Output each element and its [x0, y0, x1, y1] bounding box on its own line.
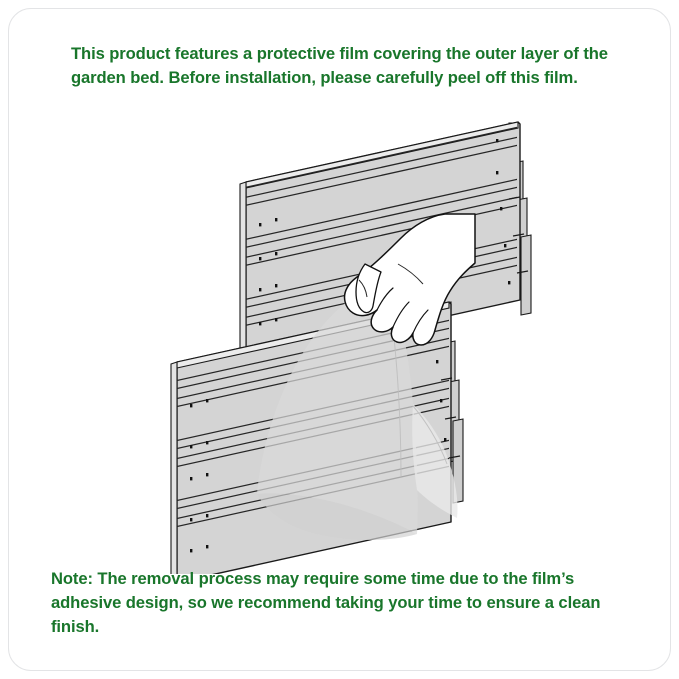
- lower-panel: [9, 263, 672, 574]
- lower-panel-right-flanges: [441, 302, 463, 503]
- lower-panel-left-flange: [171, 362, 177, 574]
- upper-panel: [9, 104, 672, 382]
- lower-panel-face: [177, 302, 451, 574]
- garden-bed-peel-film-illustration: [9, 104, 672, 574]
- upper-panel-left-flange: [240, 182, 246, 362]
- film-sheet: [257, 279, 418, 534]
- lower-panel-screw-holes: [190, 320, 446, 552]
- hand: [345, 214, 475, 345]
- hand-thumb: [356, 264, 381, 313]
- upper-panel-face: [246, 122, 520, 360]
- lower-panel-ribs: [9, 263, 672, 568]
- top-instruction-text: This product features a protective film …: [71, 42, 616, 90]
- film-bottom-roll: [257, 493, 417, 540]
- instruction-card: This product features a protective film …: [8, 8, 671, 671]
- hand-arm: [345, 214, 475, 345]
- upper-panel-right-flanges: [509, 123, 531, 315]
- upper-panel-ribs: [9, 104, 672, 382]
- upper-panel-screw-holes: [259, 139, 510, 325]
- bottom-instruction-text: Note: The removal process may require so…: [51, 567, 631, 640]
- film-curl: [412, 404, 457, 518]
- protective-film: [257, 279, 458, 540]
